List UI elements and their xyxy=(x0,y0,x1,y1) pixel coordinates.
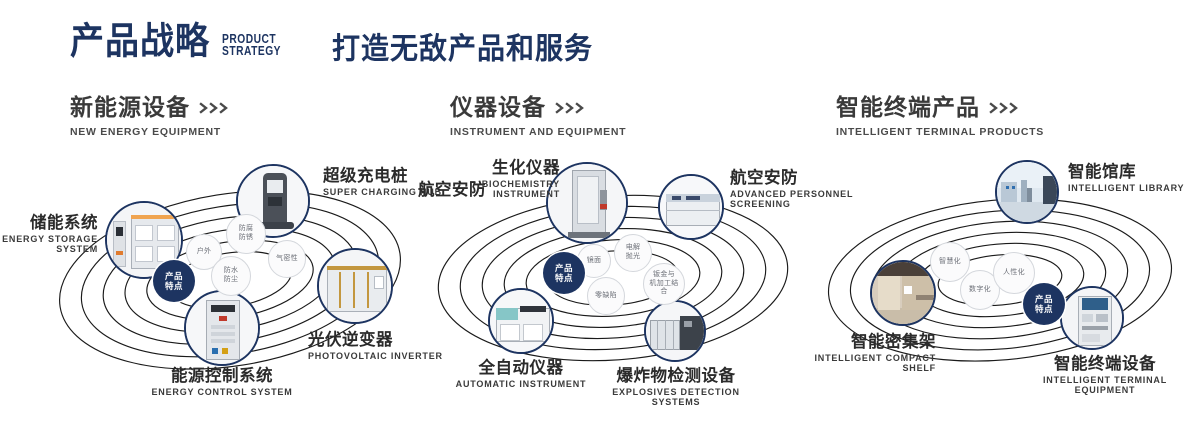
node-energy-control-system[interactable] xyxy=(184,290,260,366)
explosives-detection-photo xyxy=(646,302,704,360)
core-label: 产品 特点 xyxy=(165,271,183,291)
label-cn: 生化仪器 xyxy=(428,160,560,177)
section-title-en: NEW ENERGY EQUIPMENT xyxy=(70,126,233,138)
node-explosives-detection[interactable] xyxy=(644,300,706,362)
feature-zero-defect: 零缺陷 xyxy=(587,277,625,315)
cluster-new-energy-equipment: 储能系统 ENERGY STORAGE SYSTEM 超级充电桩 SUPER C… xyxy=(40,160,420,390)
label-explosives-detection: 爆炸物检测设备 EXPLOSIVES DETECTION SYSTEMS xyxy=(590,368,762,407)
poster-canvas: 产品战略 PRODUCT STRATEGY 打造无敌产品和服务 新能源设备 NE… xyxy=(0,0,1200,422)
section-title-intelligent: 智能终端产品 INTELLIGENT TERMINAL PRODUCTS xyxy=(836,96,1044,138)
feature-sheetmetal-machining: 钣金与 机加工结合 xyxy=(643,263,685,305)
label-cn: 能源控制系统 xyxy=(133,368,311,385)
feature-waterproof: 防水 防尘 xyxy=(211,256,251,296)
cluster-instrument-and-equipment: 航空安防 生化仪器 BIOCHEMISTRY INSTRUMENT 航空安防 A… xyxy=(418,160,808,390)
label-biochemistry-instrument: 生化仪器 BIOCHEMISTRY INSTRUMENT xyxy=(428,160,560,199)
section-title-en: INSTRUMENT AND EQUIPMENT xyxy=(450,126,626,138)
label-cn: 爆炸物检测设备 xyxy=(590,368,762,385)
label-cn: 智能馆库 xyxy=(1068,164,1200,181)
feature-label: 镜面 xyxy=(587,257,602,266)
feature-label: 智慧化 xyxy=(939,258,961,267)
feature-label: 钣金与 机加工结合 xyxy=(646,271,682,297)
section-title-cn: 仪器设备 xyxy=(450,96,546,119)
intelligent-library-photo xyxy=(997,162,1057,222)
label-en: INTELLIGENT TERMINAL EQUIPMENT xyxy=(1017,376,1193,395)
page-title-cn: 产品战略 xyxy=(70,23,210,60)
section-title-en: INTELLIGENT TERMINAL PRODUCTS xyxy=(836,126,1044,138)
label-intelligent-compact-shelf: 智能密集架 INTELLIGENT COMPACT SHELF xyxy=(766,334,936,373)
label-cn: 储能系统 xyxy=(0,215,98,232)
page-title: 产品战略 PRODUCT STRATEGY xyxy=(70,26,294,60)
feature-label: 人性化 xyxy=(1003,269,1025,278)
feature-label: 防水 防尘 xyxy=(224,267,239,285)
feature-label: 户外 xyxy=(197,248,212,257)
label-en: INTELLIGENT COMPACT SHELF xyxy=(766,354,936,373)
energy-control-photo xyxy=(186,292,258,364)
node-photovoltaic-inverter[interactable] xyxy=(317,248,393,324)
label-en: ENERGY CONTROL SYSTEM xyxy=(133,388,311,397)
page-title-en: PRODUCT STRATEGY xyxy=(222,33,281,59)
feature-label: 气密性 xyxy=(276,255,298,264)
node-intelligent-library[interactable] xyxy=(995,160,1059,224)
node-advanced-screening[interactable] xyxy=(658,174,724,240)
label-en: INTELLIGENT LIBRARY xyxy=(1068,184,1200,193)
chevron-right-icon xyxy=(555,101,589,115)
section-title-new-energy: 新能源设备 NEW ENERGY EQUIPMENT xyxy=(70,96,233,138)
feature-label: 防腐 防锈 xyxy=(239,225,254,243)
pv-inverter-photo xyxy=(319,250,391,322)
core-label: 产品 特点 xyxy=(1035,294,1053,314)
core-badge-product-features: 产品 特点 xyxy=(153,260,195,302)
node-intelligent-terminal-device[interactable] xyxy=(1060,286,1124,350)
label-en: ENERGY STORAGE SYSTEM xyxy=(0,235,98,254)
feature-label: 电解 抛光 xyxy=(626,244,641,262)
feature-electro-polishing: 电解 抛光 xyxy=(614,234,652,272)
label-automatic-instrument: 全自动仪器 AUTOMATIC INSTRUMENT xyxy=(441,360,601,390)
label-intelligent-terminal-device: 智能终端设备 INTELLIGENT TERMINAL EQUIPMENT xyxy=(1017,356,1193,395)
section-title-instrument: 仪器设备 INSTRUMENT AND EQUIPMENT xyxy=(450,96,626,138)
label-cn: 智能终端设备 xyxy=(1017,356,1193,373)
feature-label: 零缺陷 xyxy=(595,292,617,301)
automatic-instrument-photo xyxy=(490,290,552,352)
node-automatic-instrument[interactable] xyxy=(488,288,554,354)
feature-airtightness: 气密性 xyxy=(268,240,306,278)
screening-photo xyxy=(660,176,722,238)
chevron-right-icon xyxy=(199,101,233,115)
section-title-cn: 智能终端产品 xyxy=(836,96,980,119)
label-energy-storage-system: 储能系统 ENERGY STORAGE SYSTEM xyxy=(0,215,98,254)
label-intelligent-library: 智能馆库 INTELLIGENT LIBRARY xyxy=(1068,164,1200,194)
feature-anti-corrosion: 防腐 防锈 xyxy=(226,214,266,254)
label-en: BIOCHEMISTRY INSTRUMENT xyxy=(428,180,560,199)
label-en: EXPLOSIVES DETECTION SYSTEMS xyxy=(590,388,762,407)
chevron-right-icon xyxy=(989,101,1023,115)
terminal-device-photo xyxy=(1062,288,1122,348)
core-badge-product-features: 产品 特点 xyxy=(1023,283,1065,325)
node-intelligent-compact-shelf[interactable] xyxy=(870,260,936,326)
label-en: AUTOMATIC INSTRUMENT xyxy=(441,380,601,389)
cluster-intelligent-terminal-products: 智能馆库 INTELLIGENT LIBRARY 智能密集架 INTELLIGE… xyxy=(810,160,1200,390)
section-title-cn: 新能源设备 xyxy=(70,96,190,119)
feature-label: 数字化 xyxy=(969,286,991,295)
compact-shelf-photo xyxy=(872,262,934,324)
core-label: 产品 特点 xyxy=(555,263,573,283)
label-cn: 智能密集架 xyxy=(766,334,936,351)
page-subtitle: 打造无敌产品和服务 xyxy=(332,34,593,64)
label-cn: 全自动仪器 xyxy=(441,360,601,377)
label-energy-control-system: 能源控制系统 ENERGY CONTROL SYSTEM xyxy=(133,368,311,398)
core-badge-product-features: 产品 特点 xyxy=(543,252,585,294)
